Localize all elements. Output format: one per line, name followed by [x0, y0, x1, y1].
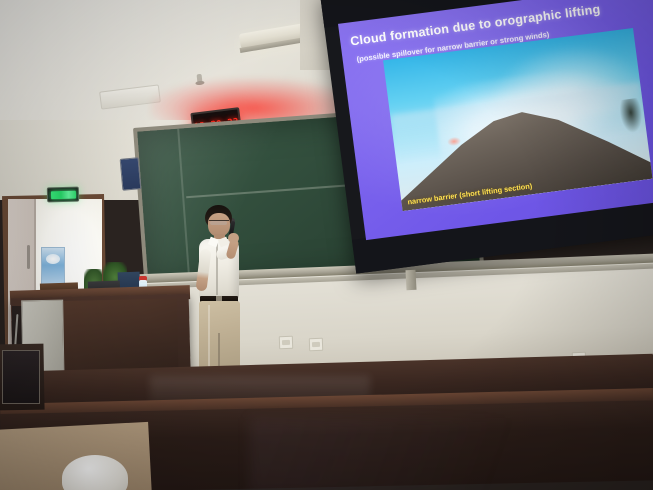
presenter-hand [228, 233, 239, 243]
projection-screen: Cloud formation due to orographic liftin… [320, 0, 653, 274]
side-cabinet-panel [2, 350, 40, 404]
exit-sign [47, 187, 79, 203]
wall-outlet-mid [309, 338, 323, 351]
exit-sign-glyph-icon [50, 190, 75, 199]
projected-slide: Cloud formation due to orographic liftin… [338, 0, 653, 240]
lens-flare [447, 136, 462, 147]
screen-support-bracket [405, 270, 416, 290]
floor-sheen [250, 418, 653, 490]
wall-outlet-left [279, 336, 293, 349]
lecture-hall-photo: 13:39:22 Cloud formation due to orograph… [0, 0, 653, 490]
wall-mounted-speaker-box [120, 157, 142, 191]
door-handle[interactable] [27, 245, 30, 269]
slide-photo: narrow barrier (short lifting section) [383, 28, 652, 211]
foreground-tree [618, 98, 644, 135]
presenter-glasses [209, 220, 229, 226]
corridor-poster [41, 247, 65, 287]
